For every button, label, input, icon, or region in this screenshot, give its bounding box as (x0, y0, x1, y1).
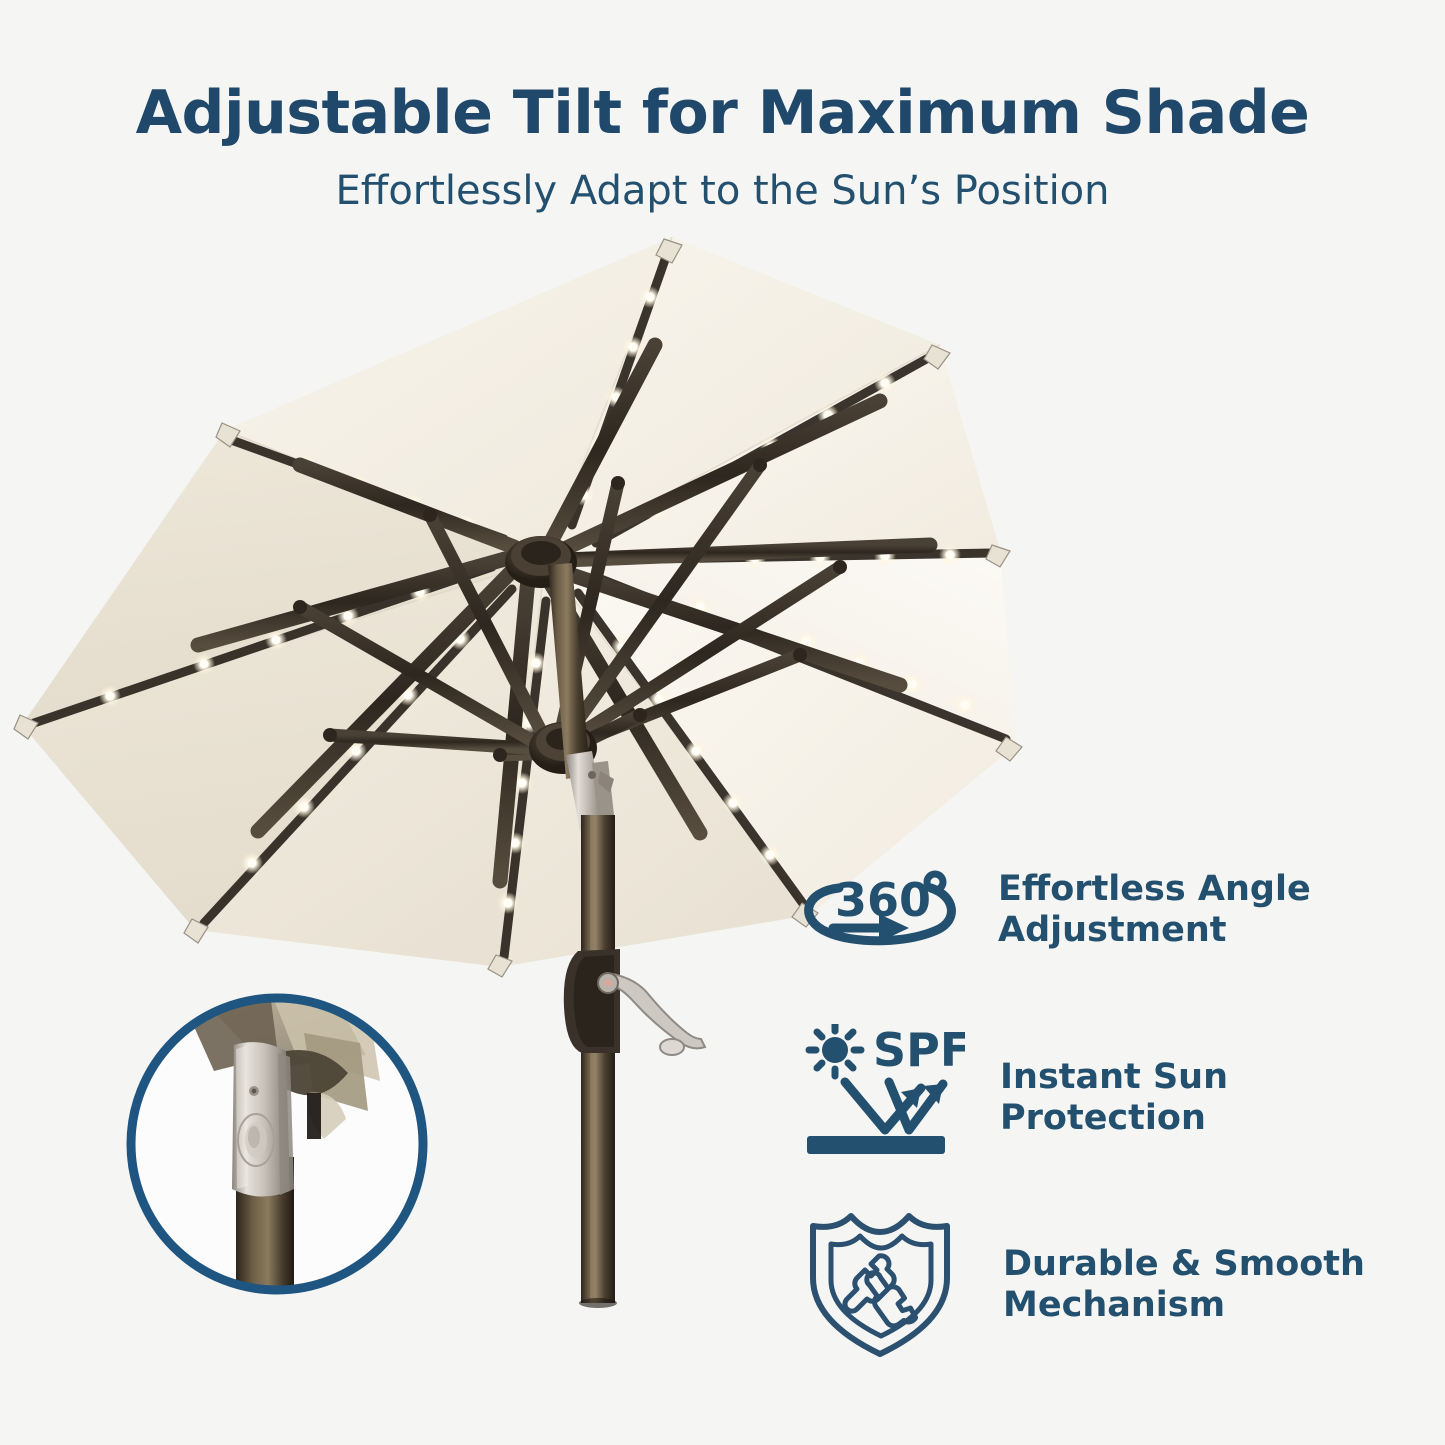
360-degree-rotation-icon: 360 (795, 862, 960, 958)
svg-text:360: 360 (835, 873, 931, 927)
spf-sun-protection-icon: SPF (797, 1024, 965, 1172)
feature-label-durable-mechanism: Durable & Smooth Mechanism (1003, 1244, 1365, 1327)
crank-handle (564, 949, 705, 1055)
feature-label-angle-adjustment: Effortless Angle Adjustment (998, 869, 1311, 952)
page-subtitle: Effortlessly Adapt to the Sun’s Position (0, 168, 1445, 214)
shield-wrench-durability-icon (803, 1210, 958, 1360)
feature-item-sun-protection: SPF Instant Sun Protection (797, 1024, 1435, 1172)
tilt-mechanism-closeup-inset (118, 985, 436, 1303)
umbrella-pole-lower (581, 815, 615, 1303)
infographic-page: Adjustable Tilt for Maximum Shade Effort… (0, 0, 1445, 1445)
svg-text:SPF: SPF (873, 1024, 965, 1077)
page-title: Adjustable Tilt for Maximum Shade (0, 78, 1445, 148)
feature-item-durable-mechanism: Durable & Smooth Mechanism (803, 1210, 1365, 1360)
feature-item-angle-adjustment: 360 Effortless Angle Adjustment (795, 862, 1311, 958)
feature-label-sun-protection: Instant Sun Protection (1000, 1057, 1435, 1140)
